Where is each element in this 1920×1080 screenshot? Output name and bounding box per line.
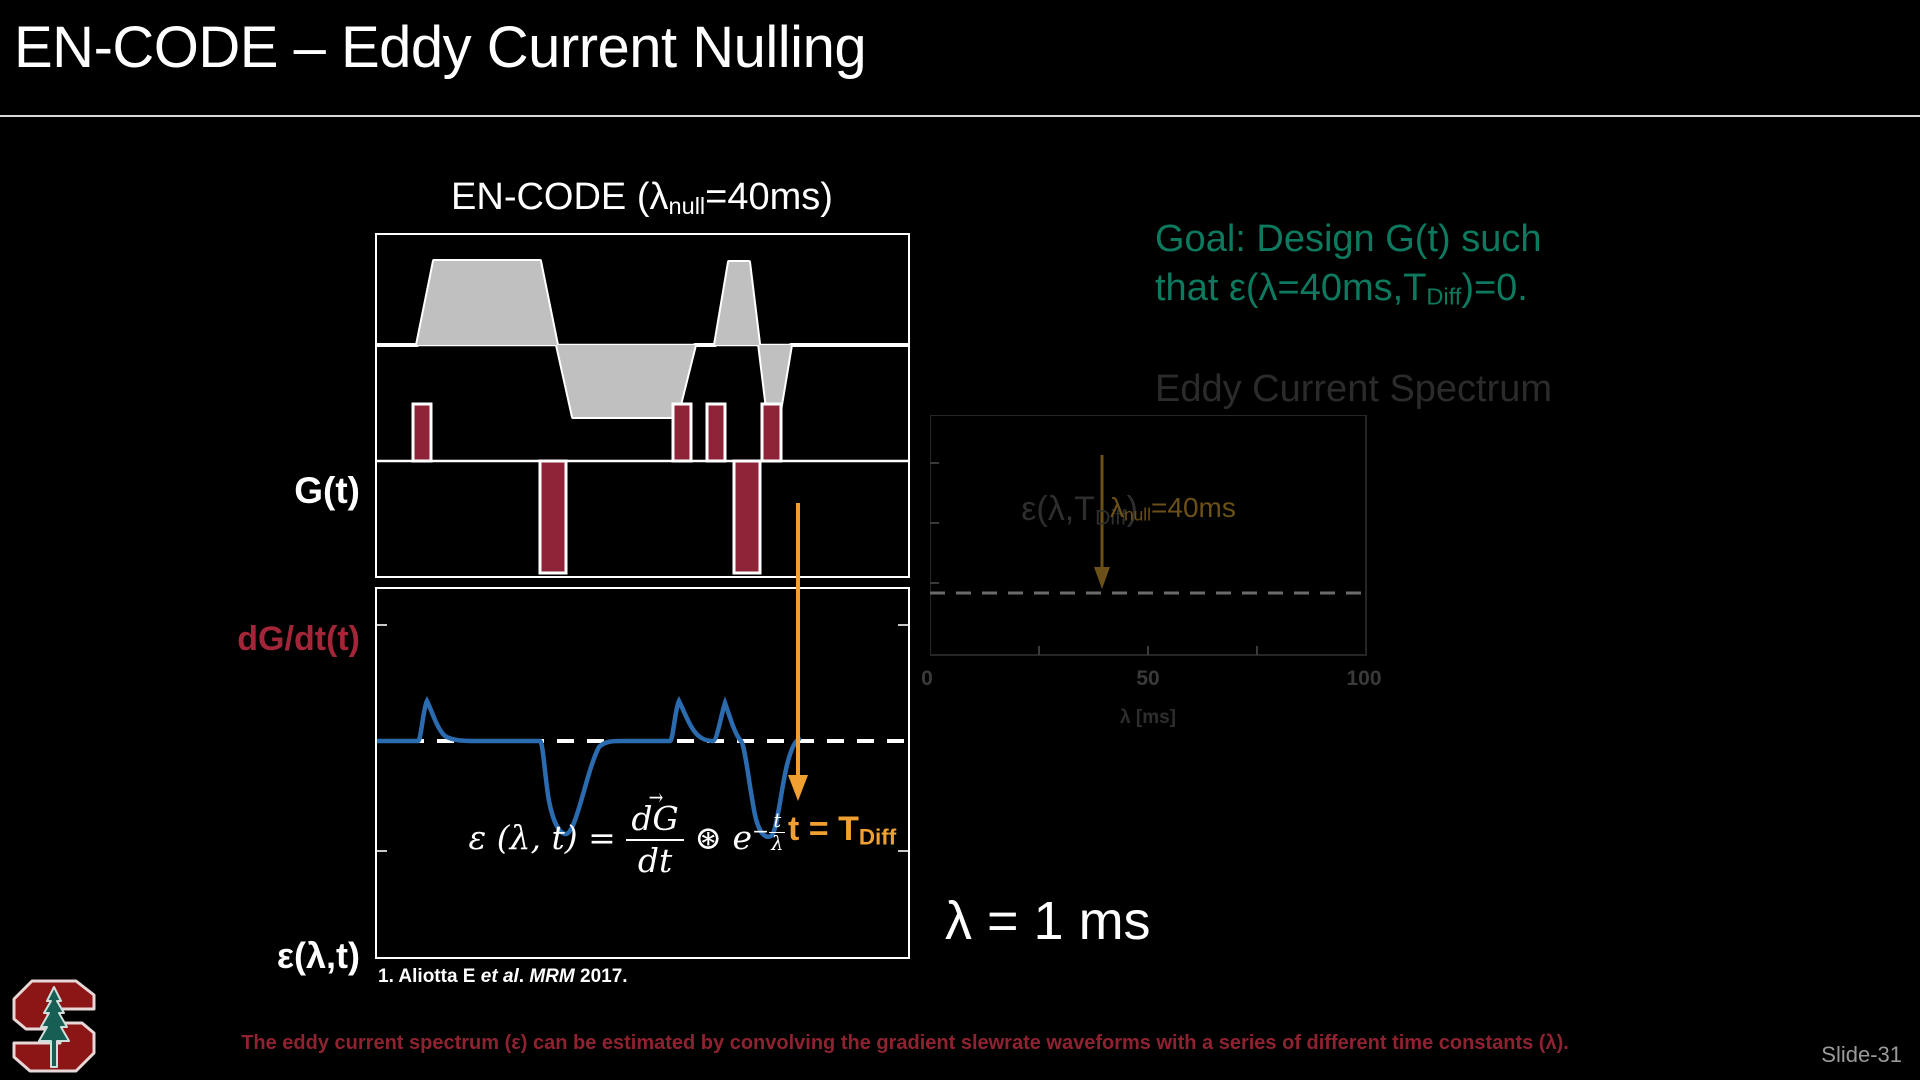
tdiff-label: t = TDiff [788,810,896,850]
slide-number: Slide-31 [1821,1042,1902,1068]
tdiff-arrowhead-icon [788,775,808,801]
spectrum-plot-area [930,415,1490,715]
citation-year: 2017. [575,966,628,987]
encode-figure-title: EN-CODE (λnull=40ms) [382,176,902,220]
spectrum-ylabel-pre: ε(λ,T [1021,490,1095,528]
spectrum-xticklabel-50: 50 [1118,667,1178,691]
citation-index: 1. Aliotta E [378,966,481,987]
tdiff-marker [370,233,915,873]
citation-journal: MRM [529,966,574,987]
lambda-null-arrowhead-icon [1094,567,1110,589]
spectrum-plot-frame [930,415,1366,655]
gradient-waveform-label: G(t) [170,470,360,512]
eddy-current-spectrum-figure: ε(λ,TDiff) 0 50 100 λ [ms] [930,415,1490,725]
encode-waveform-figure: EN-CODE (λnull=40ms) G(t) dG/dt(t) ε(λ,t… [370,180,915,955]
goal-line-2: that ε(λ=40ms,TDiff)=0. [1155,264,1715,313]
goal-line-1: Goal: Design G(t) such [1155,215,1715,264]
spectrum-heading: Eddy Current Spectrum [1155,368,1552,411]
slide-root: EN-CODE – Eddy Current Nulling EN-CODE (… [0,0,1920,1080]
goal-line2-post: )=0. [1461,267,1528,309]
tdiff-label-text: t = T [788,810,859,848]
citation-etal: et al [481,966,519,987]
encode-title-suffix: =40ms) [705,176,833,218]
goal-statement: Goal: Design G(t) such that ε(λ=40ms,TDi… [1155,215,1715,312]
spectrum-x-axis-label: λ [ms] [868,707,1428,729]
goal-line2-sub: Diff [1426,283,1461,309]
citation-footnote: 1. Aliotta E et al. MRM 2017. [378,966,628,988]
spectrum-xticklabel-0: 0 [897,667,957,691]
encode-title-sub: null [669,193,706,219]
lambda-null-annotation: λnull=40ms [1110,492,1236,525]
lambda-value-note: λ = 1 ms [945,890,1151,952]
citation-mid: . [519,966,530,987]
spectrum-xticklabel-100: 100 [1334,667,1394,691]
footer-caption: The eddy current spectrum (ε) can be est… [0,1032,1810,1055]
lambda-null-pre: λ [1110,492,1124,523]
lambda-null-post: =40ms [1151,492,1236,523]
lambda-null-sub: null [1124,504,1151,524]
goal-line2-pre: that ε(λ=40ms,T [1155,267,1426,309]
encode-title-prefix: EN-CODE (λ [451,176,668,218]
stanford-tree-logo [6,975,102,1075]
tdiff-label-sub: Diff [859,824,896,849]
page-title: EN-CODE – Eddy Current Nulling [14,14,866,81]
spectrum-y-axis-label: ε(λ,TDiff) [908,490,1138,530]
epsilon-waveform-label: ε(λ,t) [160,935,360,977]
title-divider [0,115,1920,117]
slewrate-waveform-label: dG/dt(t) [140,620,360,659]
